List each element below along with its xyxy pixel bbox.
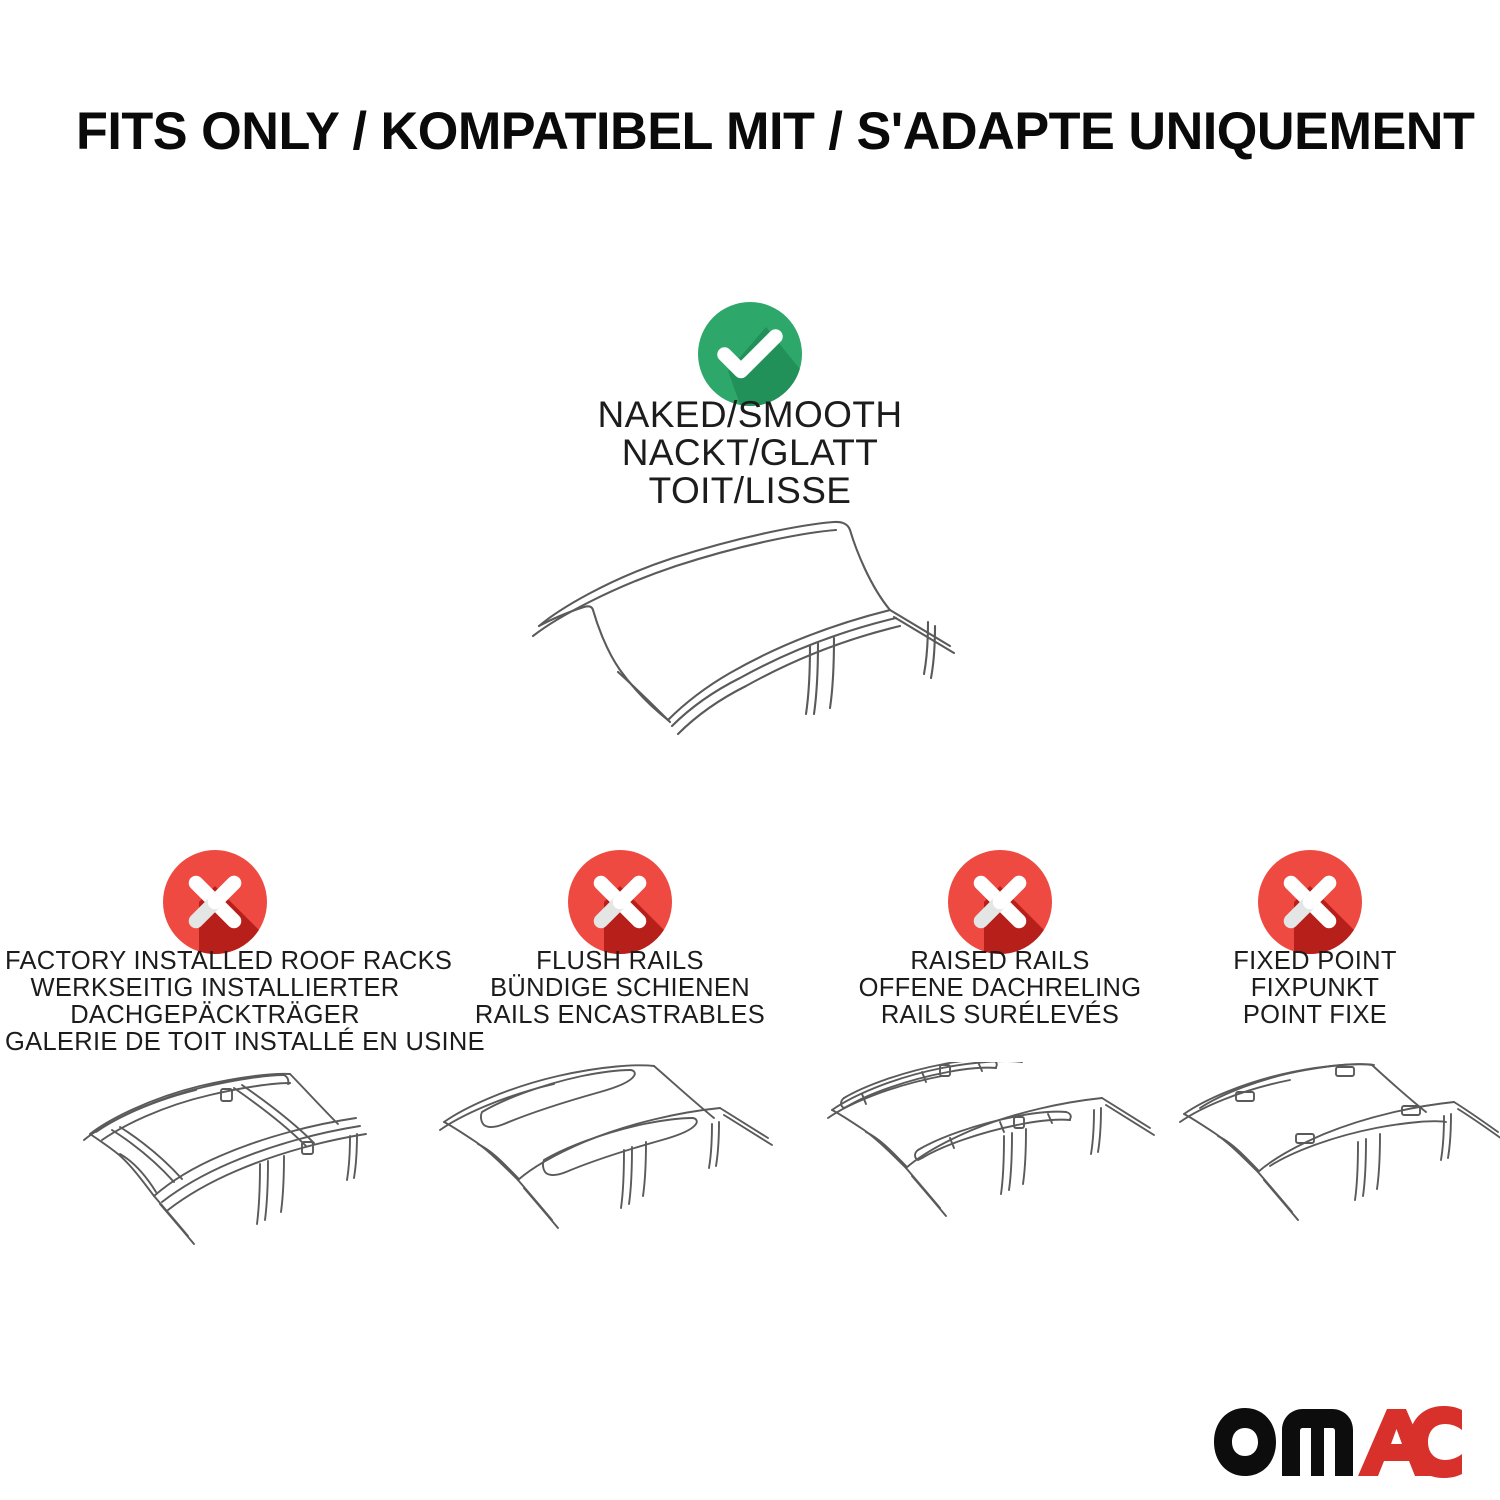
illustration-fixed-point (1178, 1062, 1500, 1267)
caption-line: POINT FIXE (1160, 1002, 1470, 1029)
incompatible-caption-2: FLUSH RAILS BÜNDIGE SCHIENEN RAILS ENCAS… (420, 948, 820, 1029)
check-circle-icon (697, 301, 803, 407)
incompatible-caption-3: RAISED RAILS OFFENE DACHRELING RAILS SUR… (800, 948, 1200, 1029)
incompatible-caption-4: FIXED POINT FIXPUNKT POINT FIXE (1160, 948, 1470, 1029)
caption-line: RAILS ENCASTRABLES (420, 1002, 820, 1029)
illustration-flush-rails (438, 1062, 818, 1267)
x-circle-icon (162, 849, 268, 955)
caption-line: BÜNDIGE SCHIENEN (420, 975, 820, 1002)
caption-line: WERKSEITIG INSTALLIERTER (5, 975, 425, 1002)
incompatible-x-badge-4 (1257, 849, 1363, 955)
logo-letter-o (1214, 1408, 1276, 1476)
incompatible-x-badge-1 (162, 849, 268, 955)
omac-logo-mark (1212, 1404, 1464, 1480)
caption-line: NAKED/SMOOTH (500, 396, 1000, 434)
caption-line: FIXPUNKT (1160, 975, 1470, 1002)
x-circle-icon (567, 849, 673, 955)
incompatible-caption-1: FACTORY INSTALLED ROOF RACKS WERKSEITIG … (5, 948, 425, 1056)
logo-letter-m (1282, 1409, 1353, 1476)
page-title: FITS ONLY / KOMPATIBEL MIT / S'ADAPTE UN… (76, 101, 1416, 162)
caption-line: FACTORY INSTALLED ROOF RACKS (5, 948, 425, 975)
car-roof-naked-smooth-drawing (498, 518, 1028, 788)
caption-line: GALERIE DE TOIT INSTALLÉ EN USINE (5, 1029, 425, 1056)
illustration-raised-rails (818, 1062, 1198, 1267)
caption-line: TOIT/LISSE (500, 472, 1000, 510)
illustration-naked-smooth-roof (498, 518, 1028, 788)
incompatible-x-badge-2 (567, 849, 673, 955)
compatible-caption: NAKED/SMOOTH NACKT/GLATT TOIT/LISSE (500, 396, 1000, 510)
caption-line: RAISED RAILS (800, 948, 1200, 975)
caption-line: OFFENE DACHRELING (800, 975, 1200, 1002)
compatible-check-badge (697, 301, 803, 407)
car-roof-flush-rails-drawing (438, 1062, 818, 1267)
illustration-factory-roof-racks (38, 1062, 438, 1267)
x-circle-icon (947, 849, 1053, 955)
caption-line: RAILS SURÉLEVÉS (800, 1002, 1200, 1029)
car-roof-factory-roof-racks-drawing (38, 1062, 438, 1267)
caption-line: FLUSH RAILS (420, 948, 820, 975)
incompatible-x-badge-3 (947, 849, 1053, 955)
car-roof-fixed-point-drawing (1178, 1062, 1500, 1267)
car-roof-raised-rails-drawing (818, 1062, 1198, 1267)
omac-logo (1212, 1404, 1464, 1480)
caption-line: NACKT/GLATT (500, 434, 1000, 472)
x-circle-icon (1257, 849, 1363, 955)
caption-line: FIXED POINT (1160, 948, 1470, 975)
caption-line: DACHGEPÄCKTRÄGER (5, 1002, 425, 1029)
